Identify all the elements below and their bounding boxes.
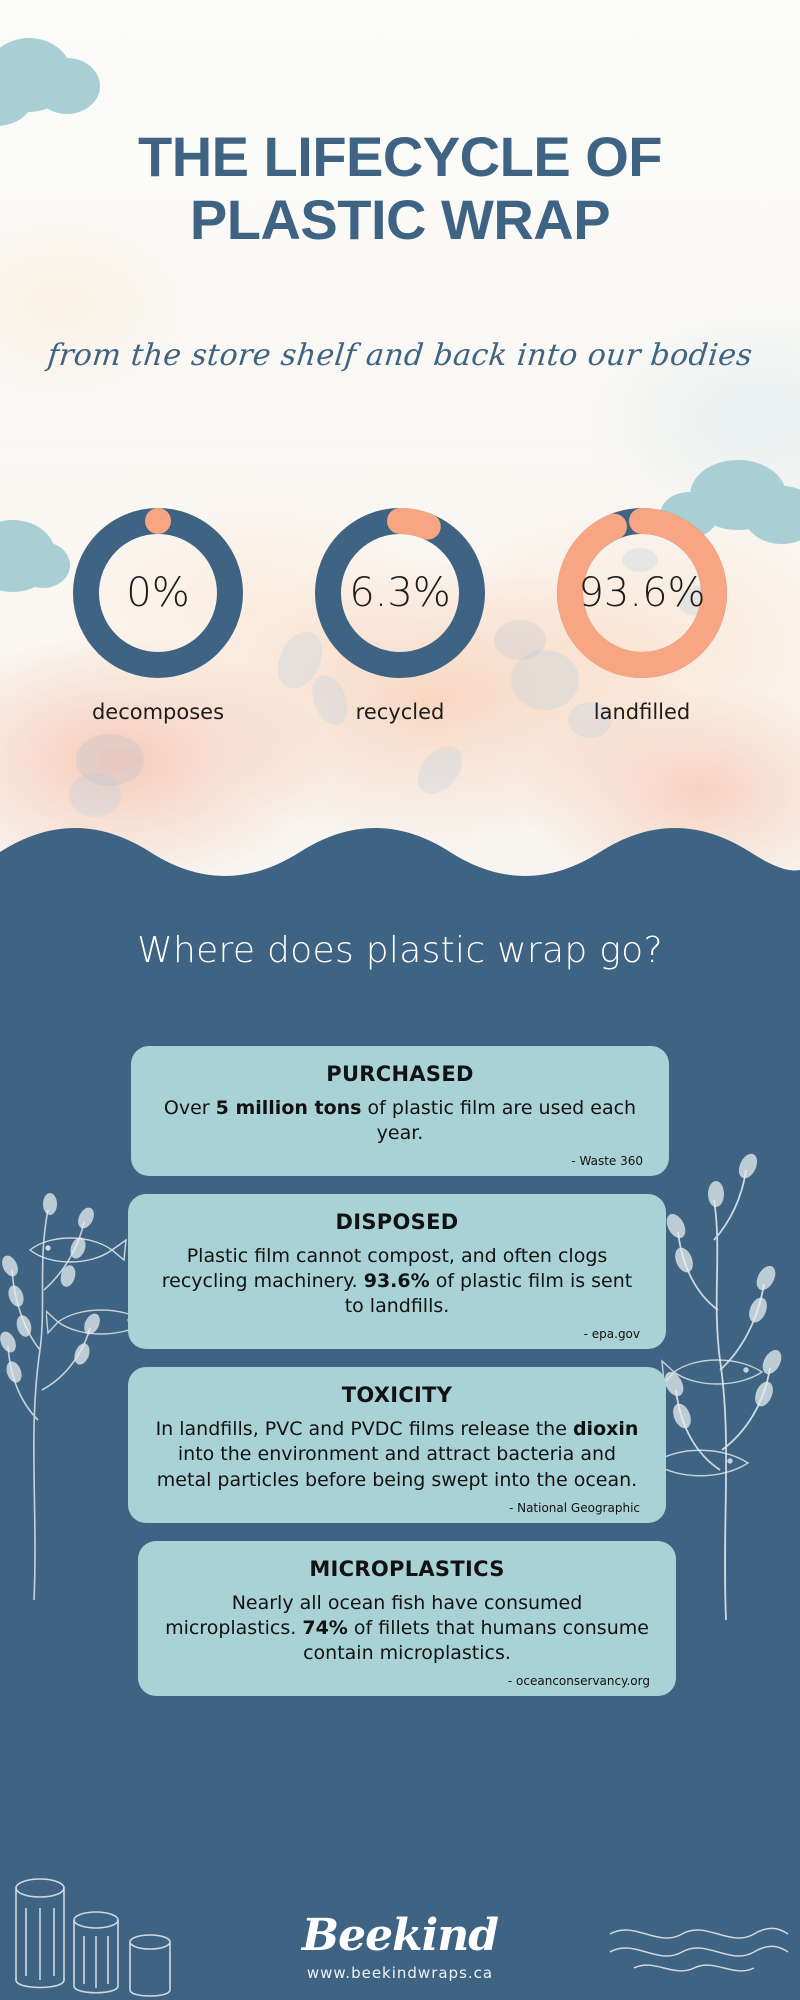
card-title: MICROPLASTICS [164,1557,650,1581]
card-title: TOXICITY [154,1383,640,1407]
donut-label-recycled: recycled [300,700,500,724]
card-body-pre: Over [164,1097,216,1119]
donut-chart-decomposes: 0% decomposes [58,500,258,724]
card-body: Plastic film cannot compost, and often c… [154,1244,640,1319]
card-body-post: of plastic film are used each year. [362,1097,637,1144]
donut-chart-recycled: 6.3% recycled [300,500,500,724]
card-title: PURCHASED [157,1062,643,1086]
donut-label-landfilled: landfilled [542,700,742,724]
section-heading: Where does plastic wrap go? [0,930,800,971]
page-subtitle: from the store shelf and back into our b… [0,338,800,373]
card-source: - oceanconservancy.org [164,1674,650,1688]
card-body: In landfills, PVC and PVDC films release… [154,1417,640,1492]
donut-ring-decomposes: 0% [65,500,251,686]
card-source: - Waste 360 [157,1154,643,1168]
card-body-highlight: dioxin [573,1418,638,1440]
brand-part1: Bee [302,1910,392,1961]
card-source: - National Geographic [154,1501,640,1515]
info-card-toxicity: TOXICITY In landfills, PVC and PVDC film… [128,1367,666,1522]
card-body-highlight: 5 million tons [216,1097,362,1119]
card-body-highlight: 74% [302,1617,347,1639]
donut-value-landfilled: 93.6% [549,500,735,686]
card-body: Over 5 million tons of plastic film are … [157,1096,643,1146]
card-body: Nearly all ocean fish have consumed micr… [164,1591,650,1666]
website-url[interactable]: www.beekindwraps.ca [0,1964,800,1982]
donut-ring-recycled: 6.3% [307,500,493,686]
card-body-highlight: 93.6% [364,1270,430,1292]
page-title-line1: THE LIFECYCLE OF [138,125,662,188]
info-card-disposed: DISPOSED Plastic film cannot compost, an… [128,1194,666,1349]
donut-chart-group: 0% decomposes 6.3% recycled [0,500,800,724]
card-body-pre: In landfills, PVC and PVDC films release… [156,1418,573,1440]
infographic-page: THE LIFECYCLE OF PLASTIC WRAP from the s… [0,0,800,2000]
top-watercolor-section: THE LIFECYCLE OF PLASTIC WRAP from the s… [0,0,800,880]
card-body-post: of fillets that humans consume contain m… [303,1617,649,1664]
donut-ring-landfilled: 93.6% [549,500,735,686]
donut-value-decomposes: 0% [65,500,251,686]
info-card-microplastics: MICROPLASTICS Nearly all ocean fish have… [138,1541,676,1696]
donut-value-recycled: 6.3% [307,500,493,686]
donut-chart-landfilled: 93.6% landfilled [542,500,742,724]
info-card-purchased: PURCHASED Over 5 million tons of plastic… [131,1046,669,1176]
page-title: THE LIFECYCLE OF PLASTIC WRAP [0,126,800,251]
footer: Beekind www.beekindwraps.ca [0,1914,800,1982]
donut-label-decomposes: decomposes [58,700,258,724]
info-card-list: PURCHASED Over 5 million tons of plastic… [0,1046,800,1714]
card-title: DISPOSED [154,1210,640,1234]
card-source: - epa.gov [154,1327,640,1341]
brand-part2: kind [392,1910,498,1961]
brand-logo: Beekind [0,1914,800,1958]
card-body-post: into the environment and attract bacteri… [157,1443,637,1490]
bottom-navy-section: Where does plastic wrap go? PURCHASED Ov… [0,880,800,2000]
page-title-line2: PLASTIC WRAP [0,189,800,252]
